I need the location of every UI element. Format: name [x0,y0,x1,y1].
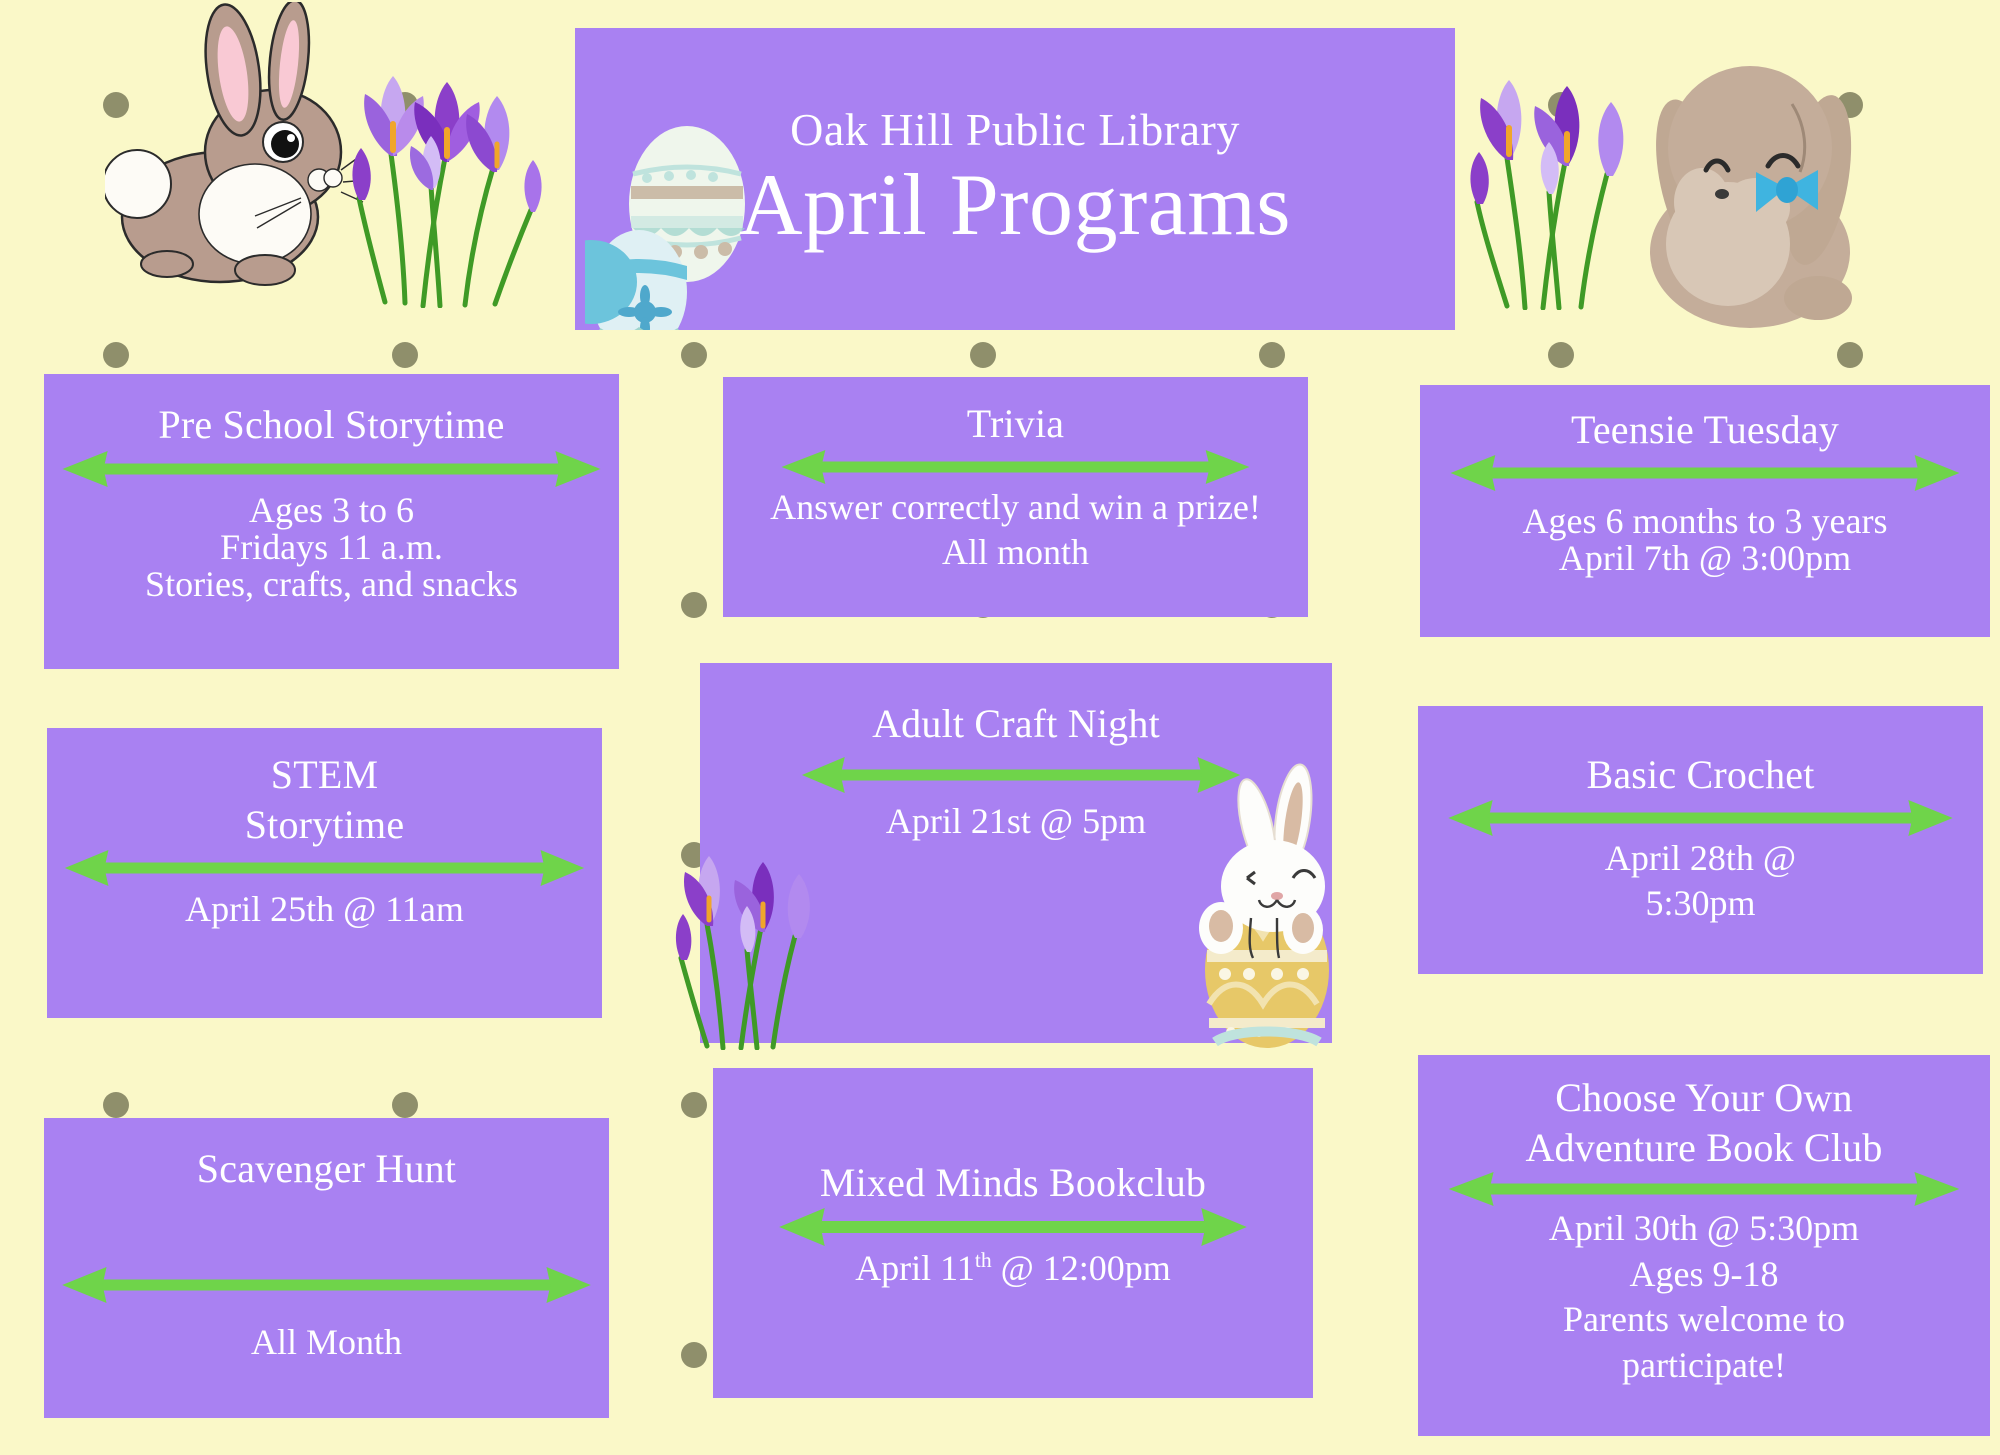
poster-header: Oak Hill Public Library April Programs [575,28,1455,330]
double-arrow-divider-icon [1418,796,1983,840]
program-title: STEM [47,754,602,796]
program-card-choose-your-own-adventure-book-club[interactable]: Choose Your Own Adventure Book Club Apri… [1418,1055,1990,1436]
double-arrow-divider-icon [700,751,1332,799]
program-card-basic-crochet[interactable]: Basic Crochet April 28th @ 5:30pm [1418,706,1983,974]
program-detail-line: Fridays 11 a.m. [44,529,619,566]
purple-crocus-flowers-icon [1455,60,1655,310]
poster-canvas: Oak Hill Public Library April Programs P… [0,0,2000,1455]
program-title: Adult Craft Night [700,703,1332,745]
program-card-adult-craft-night[interactable]: Adult Craft Night April 21st @ 5pm [700,663,1332,1043]
program-title: Mixed Minds Bookclub [713,1162,1313,1204]
program-card-scavenger-hunt[interactable]: Scavenger Hunt All Month [44,1118,609,1418]
program-card-mixed-minds-bookclub[interactable]: Mixed Minds Bookclub April 11th @ 12:00p… [713,1068,1313,1398]
program-detail-line: Ages 6 months to 3 years [1420,503,1990,540]
program-detail-line: Parents welcome to [1418,1301,1990,1338]
double-arrow-divider-icon [723,445,1308,489]
program-detail-line: April 28th @ [1418,840,1983,877]
program-title: Trivia [723,403,1308,445]
program-title: Scavenger Hunt [44,1148,609,1190]
program-detail-line: Ages 9-18 [1418,1256,1990,1293]
program-detail-line: Stories, crafts, and snacks [44,566,619,603]
double-arrow-divider-icon [1420,451,1990,495]
program-detail-line: April 30th @ 5:30pm [1418,1210,1990,1247]
lop-eared-bunny-with-bowtie-icon [1610,30,1875,330]
program-detail-line: April 21st @ 5pm [700,803,1332,840]
program-detail-line: All month [723,534,1308,571]
program-card-teensie-tuesday[interactable]: Teensie Tuesday Ages 6 months to 3 years… [1420,385,1990,637]
double-arrow-divider-icon [44,446,619,492]
program-title: Basic Crochet [1418,754,1983,796]
program-detail-line: April 7th @ 3:00pm [1420,540,1990,577]
program-title-line2: Adventure Book Club [1418,1127,1990,1169]
program-detail-line: Answer correctly and win a prize! [723,489,1308,526]
page-title: April Programs [739,160,1291,252]
program-card-preschool-storytime[interactable]: Pre School Storytime Ages 3 to 6 Fridays… [44,374,619,669]
blue-bowtie-icon [1756,170,1818,212]
program-title: Teensie Tuesday [1420,409,1990,451]
program-title: Pre School Storytime [44,404,619,446]
double-arrow-divider-icon [1418,1168,1990,1210]
date-ordinal-suffix: th [975,1248,992,1272]
program-detail-line: April 25th @ 11am [47,891,602,928]
program-subtitle: Storytime [47,804,602,846]
bunny-sniffing-flowers-icon [105,2,365,292]
program-card-trivia[interactable]: Trivia Answer correctly and win a prize!… [723,377,1308,617]
program-detail-line: All Month [44,1324,609,1361]
program-detail-line: Ages 3 to 6 [44,492,619,529]
double-arrow-divider-icon [44,1262,609,1308]
purple-crocus-flowers-icon [345,58,550,308]
program-card-stem-storytime[interactable]: STEM Storytime April 25th @ 11am [47,728,602,1018]
double-arrow-divider-icon [713,1204,1313,1250]
program-detail-line: participate! [1418,1347,1990,1384]
date-prefix: April 11 [855,1248,975,1288]
double-arrow-divider-icon [47,845,602,891]
program-title-line1: Choose Your Own [1418,1077,1990,1119]
program-detail-line: 5:30pm [1418,885,1983,922]
library-name: Oak Hill Public Library [790,106,1240,154]
date-rest: @ 12:00pm [992,1248,1171,1288]
program-date-line: April 11th @ 12:00pm [713,1250,1313,1287]
